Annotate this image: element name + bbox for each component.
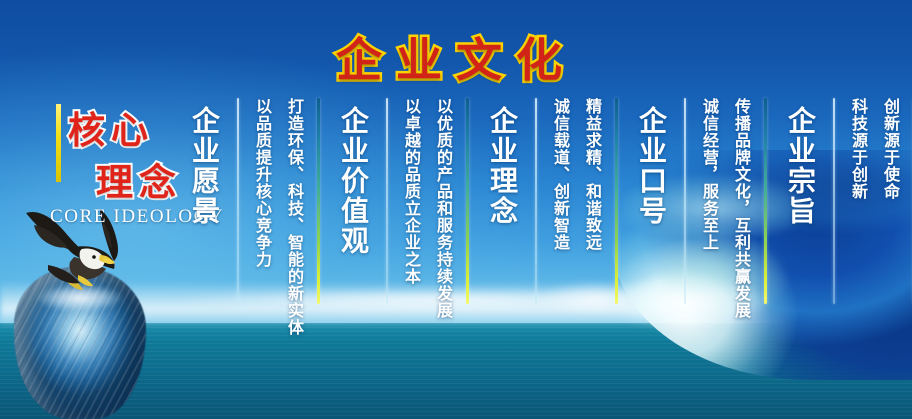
culture-column-values: 企业价值观 以卓越的品质立企业之本 以优质的产品和服务持续发展 — [327, 92, 476, 319]
poster-canvas: 企业文化 核心 理念 CORE IDEOLOGY 企业愿景 以品质提升核心竞争力… — [0, 0, 912, 419]
column-subline: 诚信经营，服务至上 — [697, 98, 721, 251]
column-subline: 诚信载道、创新智造 — [548, 98, 572, 251]
column-subline: 以品质提升核心竞争力 — [250, 98, 274, 268]
column-subline: 以卓越的品质立企业之本 — [399, 98, 423, 285]
culture-column-list: 企业愿景 以品质提升核心竞争力 打造环保、科技、智能的新实体 企业价值观 以卓越… — [178, 92, 912, 322]
column-divider-plain — [833, 98, 835, 304]
column-subline: 以优质的产品和服务持续发展 — [431, 98, 455, 319]
column-subline: 创新源于使命 — [878, 98, 902, 200]
column-divider-plain — [386, 98, 388, 304]
page-title: 企业文化 — [0, 24, 912, 90]
column-subline: 科技源于创新 — [846, 98, 870, 200]
column-heading: 企业理念 — [482, 106, 522, 226]
column-divider-gradient — [615, 98, 618, 304]
column-divider-gradient — [466, 98, 469, 304]
column-heading: 企业口号 — [631, 106, 671, 226]
column-heading: 企业价值观 — [333, 106, 373, 256]
culture-column-purpose: 企业宗旨 科技源于创新 创新源于使命 — [774, 92, 912, 304]
column-divider-plain — [684, 98, 686, 304]
column-divider-gradient — [317, 98, 320, 304]
culture-column-slogan: 企业口号 诚信经营，服务至上 传播品牌文化，互利共赢发展 — [625, 92, 774, 319]
column-subline: 打造环保、科技、智能的新实体 — [282, 98, 306, 336]
column-subline: 传播品牌文化，互利共赢发展 — [729, 98, 753, 319]
column-heading: 企业愿景 — [184, 106, 224, 226]
column-divider-plain — [237, 98, 239, 304]
column-heading: 企业宗旨 — [780, 106, 820, 226]
column-subline: 精益求精、和谐致远 — [580, 98, 604, 251]
column-divider-plain — [535, 98, 537, 304]
column-divider-gradient — [764, 98, 767, 304]
culture-column-philosophy: 企业理念 诚信载道、创新智造 精益求精、和谐致远 — [476, 92, 625, 304]
core-ideology-line2: 理念 — [96, 152, 182, 206]
culture-column-vision: 企业愿景 以品质提升核心竞争力 打造环保、科技、智能的新实体 — [178, 92, 327, 336]
accent-bar — [56, 104, 61, 182]
core-ideology-line1: 核心 — [68, 100, 154, 154]
